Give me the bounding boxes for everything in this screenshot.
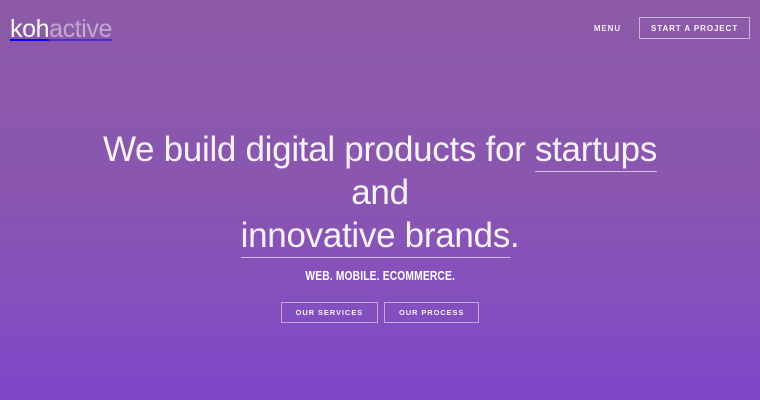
hero-cta-group: OUR SERVICES OUR PROCESS (281, 302, 480, 323)
hero-section: We build digital products for startups a… (0, 0, 760, 400)
our-process-button[interactable]: OUR PROCESS (384, 302, 479, 323)
hero-headline: We build digital products for startups a… (70, 128, 690, 257)
headline-text-part2: and (351, 173, 409, 212)
headline-text-part3: . (510, 216, 519, 255)
hero-subtitle: WEB. MOBILE. ECOMMERCE. (305, 269, 455, 283)
headline-text-part1: We build digital products for (103, 130, 535, 169)
headline-emphasis-innovative-brands: innovative brands (241, 216, 510, 258)
headline-emphasis-startups: startups (535, 130, 657, 172)
our-services-button[interactable]: OUR SERVICES (281, 302, 378, 323)
